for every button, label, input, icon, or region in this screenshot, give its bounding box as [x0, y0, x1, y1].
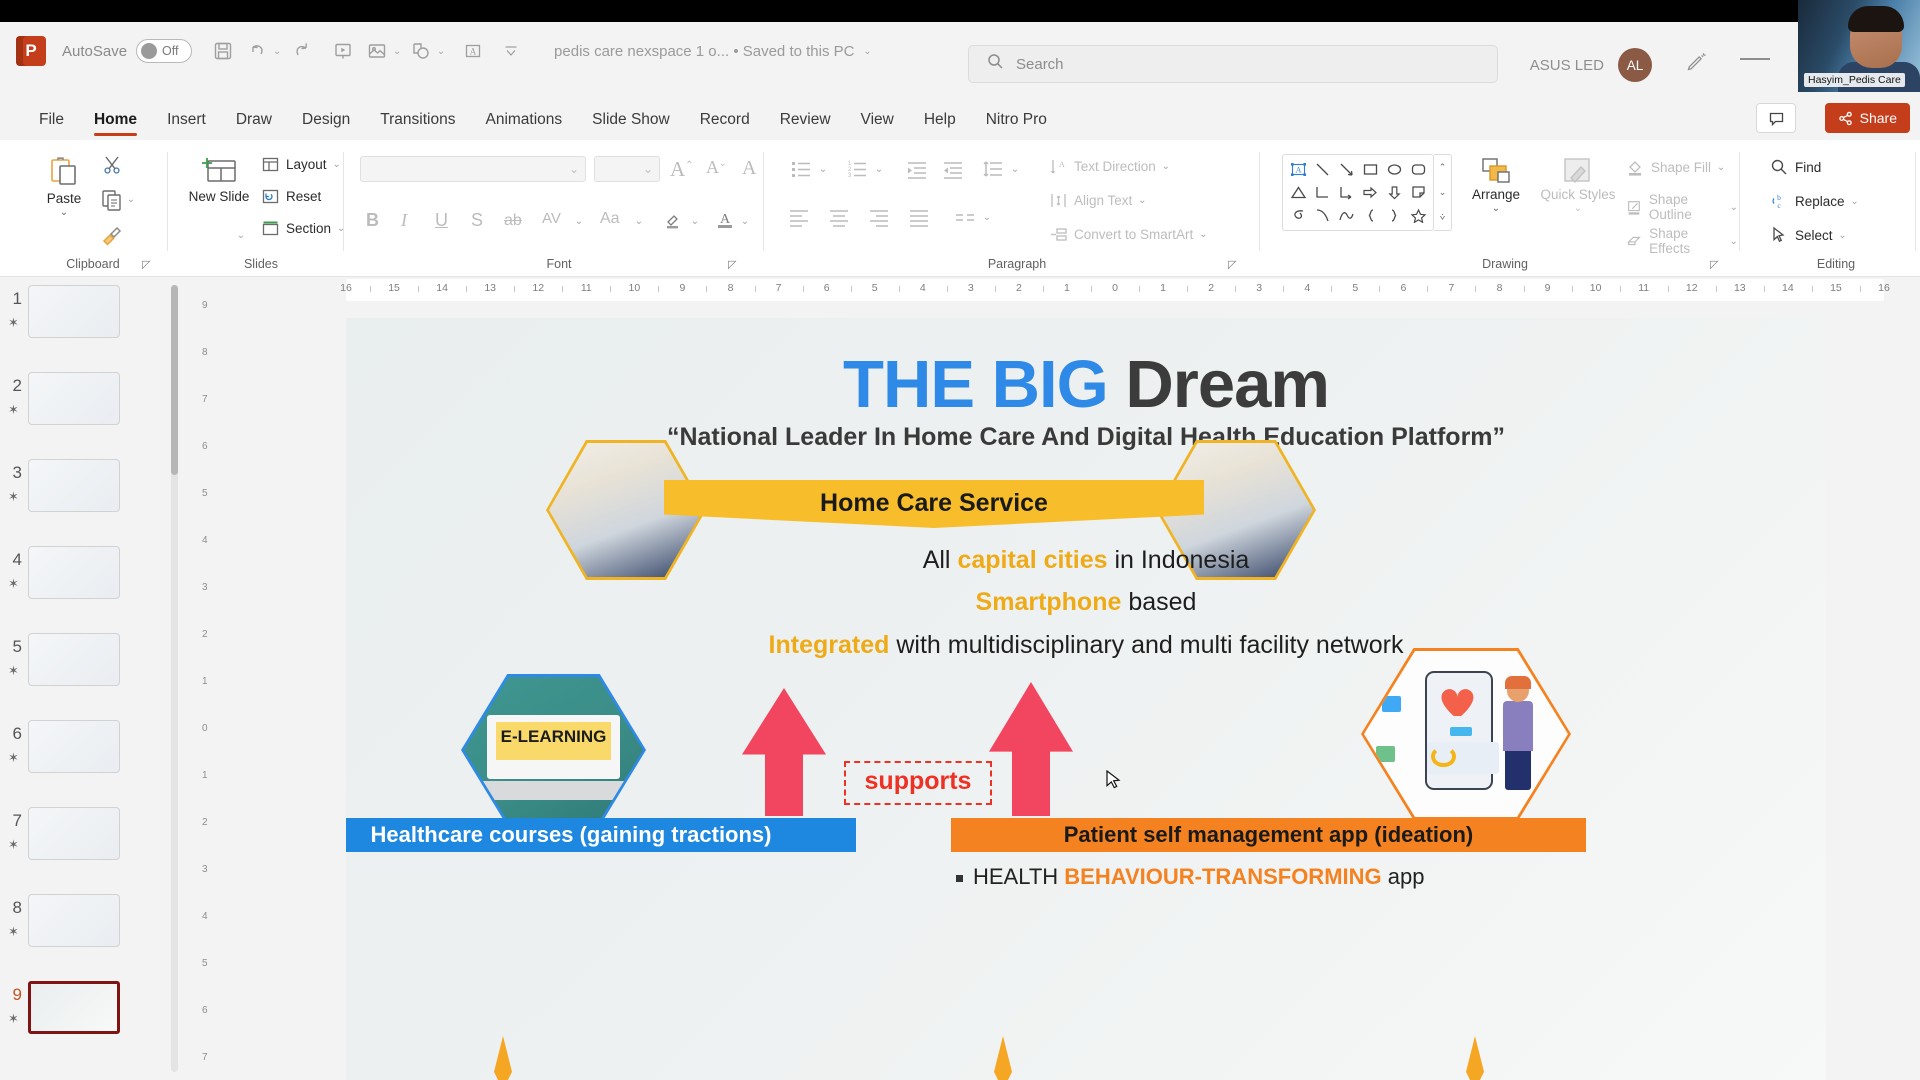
ruler-tick-mark	[562, 286, 563, 292]
ruler-tick-label: 11	[1638, 282, 1649, 294]
shape-fill-label: Shape Fill	[1651, 160, 1711, 175]
character-spacing-dropdown-icon[interactable]: ⌄	[572, 216, 586, 227]
picture-dropdown-icon[interactable]: ⌄	[390, 46, 404, 57]
start-slideshow-icon[interactable]	[326, 34, 360, 68]
shape-scribble-icon[interactable]	[1286, 204, 1310, 227]
replace-label: Replace	[1795, 194, 1845, 209]
ruler-tick-mark	[1091, 286, 1092, 292]
group-font: ⌄ ⌄ A⌃ A⌄ A B I U S ab AV ⌄ Aa ⌄ ⌄	[354, 140, 764, 277]
slide-thumbnail-item[interactable]: 2✶	[0, 372, 184, 459]
slide-thumbnail-preview[interactable]	[28, 720, 120, 773]
highlight-dropdown-icon[interactable]: ⌄	[688, 216, 702, 227]
copy-dropdown-icon[interactable]: ⌄	[124, 194, 138, 205]
decor-flame-2	[994, 1036, 1012, 1080]
shape-oval-icon[interactable]	[1382, 158, 1406, 181]
slide-number: 8	[0, 894, 28, 918]
slide-title-dark: Dream	[1125, 347, 1329, 422]
find-label: Find	[1795, 160, 1821, 175]
hexagon-patient-app[interactable]	[1361, 648, 1571, 820]
ruler-tick-mark	[1668, 286, 1669, 292]
shape-down-arrow-icon[interactable]	[1382, 181, 1406, 204]
strikethrough-button[interactable]: ab	[504, 212, 522, 230]
ruler-tick-label: 8	[728, 282, 734, 294]
shape-triangle-icon[interactable]	[1286, 181, 1310, 204]
quick-styles-dropdown-icon[interactable]: ⌄	[1574, 203, 1582, 214]
select-dropdown-icon[interactable]: ⌄	[1836, 230, 1850, 241]
clear-formatting-button[interactable]: A	[742, 157, 756, 180]
minimize-button[interactable]	[1740, 58, 1770, 60]
arrow-left-stem	[765, 749, 804, 816]
ruler-tick-mark	[1331, 286, 1332, 292]
share-button[interactable]: Share	[1825, 103, 1910, 133]
paragraph-dialog-launcher[interactable]: ◸	[1228, 258, 1240, 270]
search-icon	[987, 53, 1004, 75]
group-label-drawing: Drawing	[1270, 257, 1740, 271]
slide-number: 3	[0, 459, 28, 483]
layout-button[interactable]: Layout ⌄	[262, 156, 344, 173]
ruler-tick-label: 7	[1449, 282, 1455, 294]
svg-text:A: A	[1295, 166, 1301, 175]
ruler-tick-mark	[1427, 286, 1428, 292]
pen-annotation-icon[interactable]	[1684, 50, 1708, 79]
align-text-button[interactable]: Align Text ⌄	[1050, 192, 1149, 209]
ruler-tick-mark	[1187, 286, 1188, 292]
align-left-button[interactable]	[788, 206, 810, 233]
ribbon-tab-record[interactable]: Record	[685, 111, 765, 140]
ruler-tick-mark	[1812, 286, 1813, 292]
ruler-tick-label: 6	[824, 282, 830, 294]
vruler-tick-label: 1	[202, 676, 208, 687]
ruler-tick-mark	[1475, 286, 1476, 292]
italic-button[interactable]: I	[401, 210, 407, 231]
ruler-tick-label: 2	[1208, 282, 1214, 294]
convert-to-smartart-button[interactable]: Convert to SmartArt ⌄	[1050, 226, 1210, 243]
group-paragraph: ⌄ 1 2 3 ⌄ ⌄	[774, 140, 1260, 277]
align-right-button[interactable]	[868, 206, 890, 233]
search-input[interactable]: Search	[968, 45, 1498, 83]
ruler-tick-label: 9	[1545, 282, 1551, 294]
home-care-line-3[interactable]: Integrated with multidisciplinary and mu…	[346, 631, 1826, 660]
shape-text-box-icon[interactable]: A	[1286, 158, 1310, 181]
new-slide-label: New Slide	[189, 190, 250, 205]
home-care-banner-label: Home Care Service	[664, 480, 1204, 518]
arrange-button[interactable]: Arrange ⌄	[1460, 156, 1532, 214]
slide-animation-star-icon: ✶	[8, 663, 19, 679]
customize-qat-icon[interactable]	[494, 34, 528, 68]
slide-number: 1	[0, 285, 28, 309]
text-direction-dropdown-icon[interactable]: ⌄	[1159, 161, 1173, 172]
ruler-tick-mark	[658, 286, 659, 292]
autosave-toggle[interactable]: Off	[136, 39, 192, 63]
slide-thumbnail-preview[interactable]	[28, 459, 120, 512]
ruler-tick-label: 0	[1112, 282, 1118, 294]
slide-thumbnail-preview[interactable]	[28, 633, 120, 686]
vruler-tick-label: 4	[202, 911, 208, 922]
ruler-tick-label: 15	[388, 282, 400, 294]
supports-callout[interactable]: supports	[844, 761, 992, 805]
progress-donut-icon	[1431, 746, 1455, 768]
bulleted-list-dropdown-icon[interactable]: ⌄	[816, 164, 830, 175]
account-name: ASUS LED	[1530, 57, 1604, 74]
vruler-tick-label: 7	[202, 1052, 208, 1063]
healthcare-courses-label: Healthcare courses (gaining tractions)	[346, 818, 856, 852]
numbered-list-dropdown-icon[interactable]: ⌄	[872, 164, 886, 175]
comments-button[interactable]	[1756, 103, 1796, 133]
svg-text:A: A	[470, 46, 477, 56]
slide-thumbnail-item[interactable]: 8✶	[0, 894, 184, 981]
ribbon-tab-transitions[interactable]: Transitions	[365, 111, 470, 140]
undo-icon[interactable]	[240, 34, 274, 68]
phone-blue-chip	[1450, 727, 1472, 735]
shapes-icon[interactable]	[404, 34, 438, 68]
shapes-scroll-up-icon[interactable]: ⌃	[1434, 155, 1451, 180]
shape-arrow-icon[interactable]	[1334, 158, 1358, 181]
slide-thumbnail-item[interactable]: 4✶	[0, 546, 184, 633]
slide-thumbnail-item[interactable]: 1✶	[0, 285, 184, 372]
ruler-tick-label: 8	[1497, 282, 1503, 294]
copy-button[interactable]	[100, 188, 124, 217]
ribbon-tab-design[interactable]: Design	[287, 111, 365, 140]
ribbon-tab-slide-show[interactable]: Slide Show	[577, 111, 685, 140]
slide-thumbnail-item[interactable]: 5✶	[0, 633, 184, 720]
elearning-keyboard	[478, 781, 628, 800]
reset-button[interactable]: Reset	[262, 188, 321, 205]
section-label: Section	[286, 221, 331, 236]
format-painter-button[interactable]	[100, 222, 124, 251]
shapes-dropdown-icon[interactable]: ⌄	[434, 46, 448, 57]
vruler-tick-label: 2	[202, 817, 208, 828]
group-clipboard: Paste ⌄ ⌄ Clipboard ◸	[18, 140, 168, 277]
arrow-up-right[interactable]	[989, 682, 1073, 816]
ruler-tick-mark	[755, 286, 756, 292]
align-text-dropdown-icon[interactable]: ⌄	[1135, 195, 1149, 206]
text-highlight-button[interactable]	[664, 208, 686, 235]
shape-rectangle-icon[interactable]	[1358, 158, 1382, 181]
slide-thumbnail-pane[interactable]: 1✶2✶3✶4✶5✶6✶7✶8✶9✶	[0, 277, 184, 1080]
font-color-dropdown-icon[interactable]: ⌄	[738, 216, 752, 227]
person-legs	[1505, 747, 1532, 790]
ribbon-tab-help[interactable]: Help	[909, 111, 971, 140]
replace-dropdown-icon[interactable]: ⌄	[1848, 196, 1862, 207]
ruler-tick-label: 14	[1782, 282, 1794, 294]
powerpoint-window: P AutoSave Off ⌄	[0, 0, 1920, 1080]
autosave-label: AutoSave	[62, 43, 127, 60]
vruler-tick-label: 8	[202, 347, 208, 358]
increase-font-size-button[interactable]: A⌃	[670, 157, 694, 182]
underline-button[interactable]: U	[435, 210, 448, 231]
webcam-person-hair	[1848, 6, 1904, 32]
ruler-tick-label: 12	[532, 282, 544, 294]
select-button[interactable]: Select ⌄	[1770, 226, 1850, 244]
shape-fill-dropdown-icon[interactable]: ⌄	[1714, 162, 1728, 173]
ruler-tick-label: 16	[340, 282, 352, 294]
group-drawing: A	[1270, 140, 1740, 277]
slide-animation-star-icon: ✶	[8, 750, 19, 766]
shape-elbow-connector-icon[interactable]	[1310, 181, 1334, 204]
patient-app-image	[1364, 651, 1568, 817]
quick-styles-label: Quick Styles	[1540, 188, 1615, 203]
slide-animation-star-icon: ✶	[8, 837, 19, 853]
columns-button[interactable]	[954, 210, 976, 233]
group-label-slides: Slides	[178, 257, 344, 271]
arrange-label: Arrange	[1472, 188, 1520, 203]
shape-outline-label: Shape Outline	[1649, 192, 1725, 222]
home-care-banner[interactable]: Home Care Service	[664, 480, 1204, 528]
vruler-tick-label: 7	[202, 394, 208, 405]
shapes-gallery[interactable]: A	[1282, 154, 1434, 231]
font-family-select[interactable]: ⌄	[360, 156, 586, 182]
change-case-dropdown-icon[interactable]: ⌄	[632, 216, 646, 227]
increase-indent-button[interactable]	[942, 158, 964, 185]
person-hair	[1505, 676, 1532, 689]
select-label: Select	[1795, 228, 1833, 243]
group-separator	[763, 152, 764, 251]
shape-effects-button[interactable]: Shape Effects ⌄	[1626, 226, 1740, 256]
healthcare-courses-bar[interactable]: Healthcare courses (gaining tractions)	[346, 818, 856, 852]
group-separator	[1739, 152, 1740, 251]
ruler-tick-label: 3	[1256, 282, 1262, 294]
section-dropdown-icon[interactable]: ⌄	[334, 223, 348, 234]
ribbon-tab-file[interactable]: File	[24, 111, 79, 140]
slide-thumbnail-preview[interactable]	[28, 372, 120, 425]
vruler-tick-label: 4	[202, 535, 208, 546]
font-color-button[interactable]: A	[714, 208, 736, 235]
bullet-square-icon	[956, 875, 963, 882]
bullet-post: app	[1382, 864, 1425, 889]
hexagon-elearning[interactable]: E-LEARNING	[461, 674, 646, 826]
ruler-tick-label: 13	[1734, 282, 1746, 294]
slide-thumbnail-item[interactable]: 9✶	[0, 981, 184, 1068]
clipboard-dialog-launcher[interactable]: ◸	[142, 258, 154, 270]
slide-title[interactable]: THE BIG Dream	[346, 346, 1826, 423]
ruler-tick-mark	[1572, 286, 1573, 292]
ruler-tick-label: 4	[920, 282, 926, 294]
drawing-dialog-launcher[interactable]: ◸	[1710, 258, 1722, 270]
ribbon: Paste ⌄ ⌄ Clipboard ◸	[0, 140, 1920, 277]
line-spacing-button[interactable]	[982, 158, 1004, 185]
shape-folded-corner-icon[interactable]	[1406, 181, 1430, 204]
new-slide-button[interactable]: New Slide	[184, 156, 254, 205]
paste-button[interactable]: Paste ⌄	[32, 154, 96, 218]
slide-number: 9	[0, 981, 28, 1005]
line1-pre: All	[923, 546, 958, 574]
shape-arc-icon[interactable]	[1334, 204, 1358, 227]
group-label-font: Font	[354, 257, 764, 271]
document-title-dropdown-icon[interactable]: ⌄	[860, 46, 874, 57]
align-center-button[interactable]	[828, 206, 850, 233]
ruler-tick-label: 4	[1304, 282, 1310, 294]
ruler-tick-mark	[706, 286, 707, 292]
slide-thumbnail-preview[interactable]	[28, 981, 120, 1034]
ruler-tick-mark	[1379, 286, 1380, 292]
slide-canvas[interactable]: THE BIG Dream “National Leader In Home C…	[346, 318, 1826, 1080]
ruler-tick-mark	[1764, 286, 1765, 292]
line1-post: in Indonesia	[1108, 546, 1250, 574]
slide-thumbnail-item[interactable]: 6✶	[0, 720, 184, 807]
arrange-dropdown-icon[interactable]: ⌄	[1492, 203, 1500, 214]
vruler-tick-label: 0	[202, 723, 208, 734]
patient-app-bullet[interactable]: HEALTH BEHAVIOUR-TRANSFORMING app	[956, 864, 1424, 890]
cut-button[interactable]	[102, 154, 124, 181]
account-area[interactable]: ASUS LED AL	[1530, 48, 1652, 82]
undo-dropdown-icon[interactable]: ⌄	[270, 46, 284, 57]
arrow-left-head	[742, 688, 826, 755]
ruler-tick-label: 1	[1064, 282, 1070, 294]
replace-button[interactable]: b c Replace ⌄	[1770, 192, 1862, 210]
arrow-right-stem	[1012, 746, 1051, 816]
slide-thumbnail-item[interactable]: 3✶	[0, 459, 184, 546]
smartart-dropdown-icon[interactable]: ⌄	[1196, 229, 1210, 240]
slide-title-blue: THE BIG	[843, 347, 1108, 422]
justify-button[interactable]	[908, 206, 930, 233]
ruler-tick-mark	[1139, 286, 1140, 292]
group-slides: New Slide ⌄ Layout ⌄ Reset Section ⌄	[178, 140, 344, 277]
convert-to-smartart-label: Convert to SmartArt	[1074, 227, 1193, 242]
text-direction-button[interactable]: A Text Direction ⌄	[1050, 158, 1173, 175]
text-shadow-button[interactable]: S	[471, 210, 483, 231]
autosave-state-label: Off	[162, 44, 178, 58]
ruler-tick-label: 7	[776, 282, 782, 294]
home-care-line-1[interactable]: All capital cities in Indonesia	[346, 546, 1826, 575]
font-size-dropdown-icon[interactable]: ⌄	[643, 162, 653, 176]
slide-number: 7	[0, 807, 28, 831]
quick-styles-button[interactable]: Quick Styles ⌄	[1540, 156, 1616, 214]
paste-dropdown-icon[interactable]: ⌄	[60, 207, 68, 218]
vruler-tick-label: 5	[202, 488, 208, 499]
font-family-dropdown-icon[interactable]: ⌄	[569, 162, 579, 176]
avatar[interactable]: AL	[1618, 48, 1652, 82]
screen-top-black-strip	[0, 0, 1920, 22]
line-spacing-dropdown-icon[interactable]: ⌄	[1008, 164, 1022, 175]
bullet-pre: HEALTH	[973, 864, 1064, 889]
vertical-ruler: 98765432101234567	[200, 300, 222, 1080]
slide-number: 5	[0, 633, 28, 657]
slide-number: 6	[0, 720, 28, 744]
elearning-caption: E-LEARNING	[464, 727, 643, 747]
ribbon-tab-animations[interactable]: Animations	[470, 111, 577, 140]
shape-outline-button[interactable]: Shape Outline ⌄	[1626, 192, 1740, 222]
ruler-tick-label: 5	[872, 282, 878, 294]
section-button[interactable]: Section ⌄	[262, 220, 348, 237]
ribbon-tab-draw[interactable]: Draw	[221, 111, 287, 140]
new-slide-dropdown-icon[interactable]: ⌄	[234, 230, 248, 241]
ribbon-tab-nitro-pro[interactable]: Nitro Pro	[971, 111, 1062, 140]
shapes-gallery-more-icon[interactable]: ⩒	[1434, 205, 1451, 230]
shapes-scroll-down-icon[interactable]: ⌄	[1434, 180, 1451, 205]
group-label-editing: Editing	[1756, 257, 1916, 271]
vruler-tick-label: 6	[202, 1005, 208, 1016]
ribbon-tabs: FileHomeInsertDrawDesignTransitionsAnima…	[0, 98, 1920, 140]
vruler-tick-label: 3	[202, 864, 208, 875]
find-button[interactable]: Find	[1770, 158, 1821, 176]
ruler-tick-label: 10	[629, 282, 641, 294]
patient-app-bar[interactable]: Patient self management app (ideation)	[951, 818, 1586, 852]
bold-button[interactable]: B	[366, 210, 379, 231]
ruler-tick-label: 3	[968, 282, 974, 294]
bullet-highlight: BEHAVIOUR-TRANSFORMING	[1064, 864, 1381, 889]
character-spacing-button[interactable]: AV	[542, 210, 561, 227]
slide-thumbnail-preview[interactable]	[28, 546, 120, 599]
shape-elbow-arrow-icon[interactable]	[1334, 181, 1358, 204]
line1-highlight: capital cities	[957, 546, 1107, 574]
shape-star-icon[interactable]	[1406, 204, 1430, 227]
ribbon-tab-view[interactable]: View	[846, 111, 909, 140]
shape-curve-icon[interactable]	[1310, 204, 1334, 227]
ruler-tick-mark	[1620, 286, 1621, 292]
shape-rounded-rectangle-icon[interactable]	[1406, 158, 1430, 181]
shapes-gallery-scroll[interactable]: ⌃ ⌄ ⩒	[1434, 154, 1452, 231]
font-size-select[interactable]: ⌄	[594, 156, 660, 182]
redo-icon[interactable]	[284, 34, 318, 68]
shape-right-brace-icon[interactable]	[1382, 204, 1406, 227]
group-separator	[1259, 152, 1260, 251]
slide-number: 4	[0, 546, 28, 570]
vruler-tick-label: 2	[202, 629, 208, 640]
shape-effects-label: Shape Effects	[1649, 226, 1724, 256]
ruler-tick-mark	[1283, 286, 1284, 292]
columns-dropdown-icon[interactable]: ⌄	[980, 212, 994, 223]
vruler-tick-label: 9	[202, 300, 208, 311]
ruler-tick-mark	[1524, 286, 1525, 292]
bulleted-list-button[interactable]	[790, 158, 812, 185]
group-label-paragraph: Paragraph	[774, 257, 1260, 271]
ruler-tick-label: 16	[1878, 282, 1890, 294]
vruler-tick-label: 5	[202, 958, 208, 969]
ribbon-tab-review[interactable]: Review	[765, 111, 846, 140]
home-care-line-2[interactable]: Smartphone based	[346, 588, 1826, 617]
shape-line-icon[interactable]	[1310, 158, 1334, 181]
document-title[interactable]: pedis care nexspace 1 o... • Saved to th…	[554, 43, 854, 60]
slide-thumbnail-preview[interactable]	[28, 894, 120, 947]
slide-thumbnail-item[interactable]: 7✶	[0, 807, 184, 894]
ruler-tick-label: 10	[1590, 282, 1602, 294]
decrease-indent-button[interactable]	[906, 158, 928, 185]
elearning-image: E-LEARNING	[464, 677, 643, 823]
shape-right-arrow-icon[interactable]	[1358, 181, 1382, 204]
decrease-font-size-button[interactable]: A⌄	[706, 157, 727, 178]
ruler-tick-label: 6	[1400, 282, 1406, 294]
ruler-tick-mark	[803, 286, 804, 292]
ruler-tick-label: 9	[680, 282, 686, 294]
shape-fill-button[interactable]: Shape Fill ⌄	[1626, 158, 1728, 176]
ruler-tick-mark	[851, 286, 852, 292]
change-case-button[interactable]: Aa	[600, 210, 620, 228]
text-box-icon[interactable]: A	[456, 34, 490, 68]
vruler-tick-label: 3	[202, 582, 208, 593]
save-icon[interactable]	[206, 34, 240, 68]
slide-animation-star-icon: ✶	[8, 489, 19, 505]
ruler-tick-mark	[610, 286, 611, 292]
font-dialog-launcher[interactable]: ◸	[728, 258, 740, 270]
svg-text:A: A	[1059, 160, 1065, 169]
arrow-up-left[interactable]	[742, 688, 826, 816]
shape-left-brace-icon[interactable]	[1358, 204, 1382, 227]
slide-thumbnail-preview[interactable]	[28, 285, 120, 338]
layout-dropdown-icon[interactable]: ⌄	[330, 159, 344, 170]
picture-icon[interactable]	[360, 34, 394, 68]
ruler-tick-mark	[514, 286, 515, 292]
group-separator	[1915, 152, 1916, 251]
autosave-toggle-knob	[141, 43, 157, 59]
numbered-list-button[interactable]: 1 2 3	[846, 158, 868, 185]
slide-animation-star-icon: ✶	[8, 1011, 19, 1027]
powerpoint-logo-icon: P	[16, 36, 46, 66]
ribbon-tab-insert[interactable]: Insert	[152, 111, 221, 140]
share-label: Share	[1860, 110, 1897, 126]
ruler-tick-mark	[418, 286, 419, 292]
ribbon-tab-home[interactable]: Home	[79, 111, 152, 140]
slide-thumbnail-preview[interactable]	[28, 807, 120, 860]
